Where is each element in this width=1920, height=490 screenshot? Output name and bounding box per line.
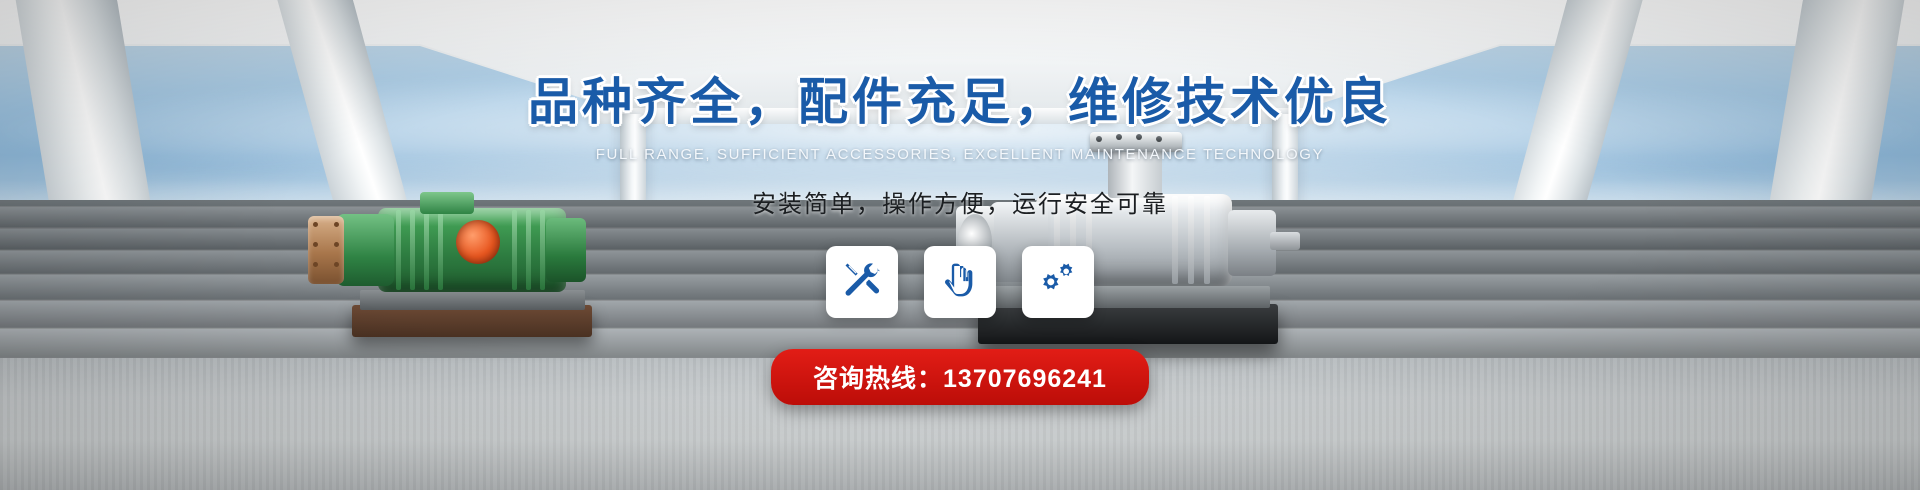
gears-icon: [1038, 260, 1078, 305]
banner-subtitle-chinese: 安装简单，操作方便，运行安全可靠: [0, 184, 1920, 219]
feature-tile-maintenance-tools[interactable]: [826, 246, 898, 318]
promo-banner: 品种齐全，配件充足，维修技术优良 FULL RANGE, SUFFICIENT …: [0, 0, 1920, 490]
feature-icon-row: [0, 246, 1920, 318]
banner-headline: 品种齐全，配件充足，维修技术优良: [0, 62, 1920, 134]
hotline-button[interactable]: 咨询热线：13707696241: [771, 349, 1149, 405]
feature-tile-easy-operation[interactable]: [924, 246, 996, 318]
hand-pointer-icon: [940, 260, 980, 305]
banner-subtitle-english: FULL RANGE, SUFFICIENT ACCESSORIES, EXCE…: [0, 146, 1920, 163]
banner-content: 品种齐全，配件充足，维修技术优良 FULL RANGE, SUFFICIENT …: [0, 0, 1920, 490]
tools-icon: [842, 260, 882, 305]
feature-tile-reliable-running[interactable]: [1022, 246, 1094, 318]
hotline-row: 咨询热线：13707696241: [0, 349, 1920, 405]
